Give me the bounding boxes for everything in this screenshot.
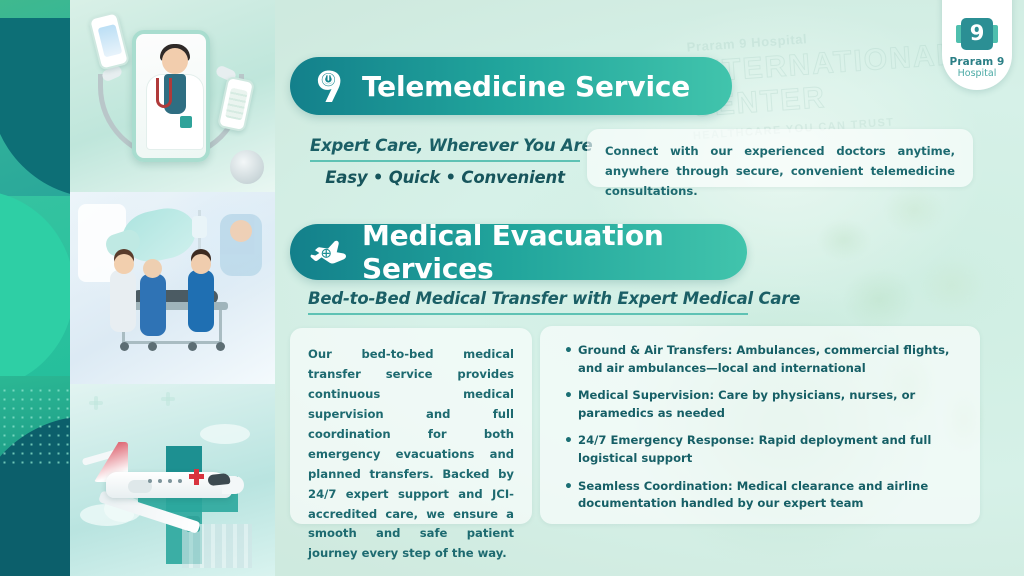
stethoscope-chestpiece bbox=[230, 150, 264, 184]
patient-transfer-photo bbox=[70, 192, 275, 384]
air-ambulance-photo bbox=[70, 384, 275, 576]
evacuation-description-card: Our bed-to-bed medical transfer service … bbox=[290, 328, 532, 524]
list-item: Medical Supervision: Care by physicians,… bbox=[562, 387, 962, 422]
list-item: Seamless Coordination: Medical clearance… bbox=[562, 478, 962, 513]
section-title: Telemedicine Service bbox=[362, 70, 690, 103]
praram9-logo-icon: 9 bbox=[961, 18, 993, 50]
medical-airplane-icon bbox=[306, 231, 348, 273]
brand-name: Praram 9 bbox=[950, 56, 1005, 68]
rail-shape-top bbox=[0, 0, 70, 196]
nurse-leading-gurney bbox=[188, 270, 214, 332]
brand-logo-badge: 9 Praram 9 Hospital bbox=[942, 0, 1012, 90]
tablet-frame bbox=[132, 30, 210, 162]
gurney-wheel bbox=[148, 342, 157, 351]
doctor-pushing-gurney bbox=[110, 270, 136, 332]
plus-accent bbox=[89, 401, 103, 405]
doctor-face bbox=[162, 48, 188, 74]
photo-column bbox=[70, 0, 275, 576]
plus-accent bbox=[161, 397, 175, 401]
airplane-red-cross bbox=[189, 474, 204, 479]
gurney-wheel bbox=[216, 342, 225, 351]
airplane-window bbox=[168, 479, 172, 483]
content-area: Telemedicine Service Expert Care, Wherev… bbox=[290, 0, 990, 576]
airplane-window bbox=[158, 479, 162, 483]
infographic-stage: Praram 9 Hospital INTERNATIONAL CENTER H… bbox=[0, 0, 1024, 576]
subtitle-primary: Bed-to-Bed Medical Transfer with Expert … bbox=[308, 289, 760, 308]
evacuation-features-card: Ground & Air Transfers: Ambulances, comm… bbox=[540, 326, 980, 524]
evacuation-feature-list: Ground & Air Transfers: Ambulances, comm… bbox=[562, 342, 962, 513]
airplane-window bbox=[148, 479, 152, 483]
list-item: Ground & Air Transfers: Ambulances, comm… bbox=[562, 342, 962, 377]
subtitle-divider bbox=[308, 313, 748, 315]
subtitle-divider bbox=[310, 160, 580, 162]
doctor-badge bbox=[180, 116, 192, 128]
telemedicine-description: Connect with our experienced doctors any… bbox=[605, 142, 955, 202]
section-header-telemedicine: Telemedicine Service bbox=[290, 57, 732, 115]
nurse-pushing-gurney bbox=[140, 274, 166, 336]
nurse-background-right bbox=[220, 214, 262, 276]
doctor-stethoscope bbox=[156, 78, 172, 108]
list-item: 24/7 Emergency Response: Rapid deploymen… bbox=[562, 432, 962, 467]
logo-nine-glyph: 9 bbox=[970, 23, 985, 44]
telemedicine-photo bbox=[70, 0, 275, 192]
section-title: Medical Evacuation Services bbox=[362, 219, 721, 285]
airplane-window bbox=[178, 479, 182, 483]
brand-subtitle: Hospital bbox=[958, 68, 997, 79]
gurney-wheel bbox=[188, 342, 197, 351]
gurney-wheel bbox=[120, 342, 129, 351]
decorative-rail bbox=[0, 0, 70, 576]
telemedicine-subtitle: Expert Care, Wherever You Are Easy • Qui… bbox=[310, 136, 580, 187]
rail-shape-middle bbox=[0, 196, 70, 376]
smartphone-top-left bbox=[88, 11, 130, 71]
evacuation-subtitle: Bed-to-Bed Medical Transfer with Expert … bbox=[308, 289, 760, 321]
evacuation-description: Our bed-to-bed medical transfer service … bbox=[308, 345, 514, 564]
subtitle-primary: Expert Care, Wherever You Are bbox=[310, 136, 580, 155]
telemedicine-description-card: Connect with our experienced doctors any… bbox=[587, 129, 973, 187]
section-header-medical-evacuation: Medical Evacuation Services bbox=[290, 224, 747, 280]
rail-dot-pattern bbox=[0, 386, 70, 466]
nine-power-icon bbox=[306, 65, 348, 107]
cloud bbox=[200, 424, 250, 444]
airplane-cockpit-window bbox=[207, 473, 230, 486]
subtitle-secondary: Easy • Quick • Convenient bbox=[310, 168, 580, 187]
